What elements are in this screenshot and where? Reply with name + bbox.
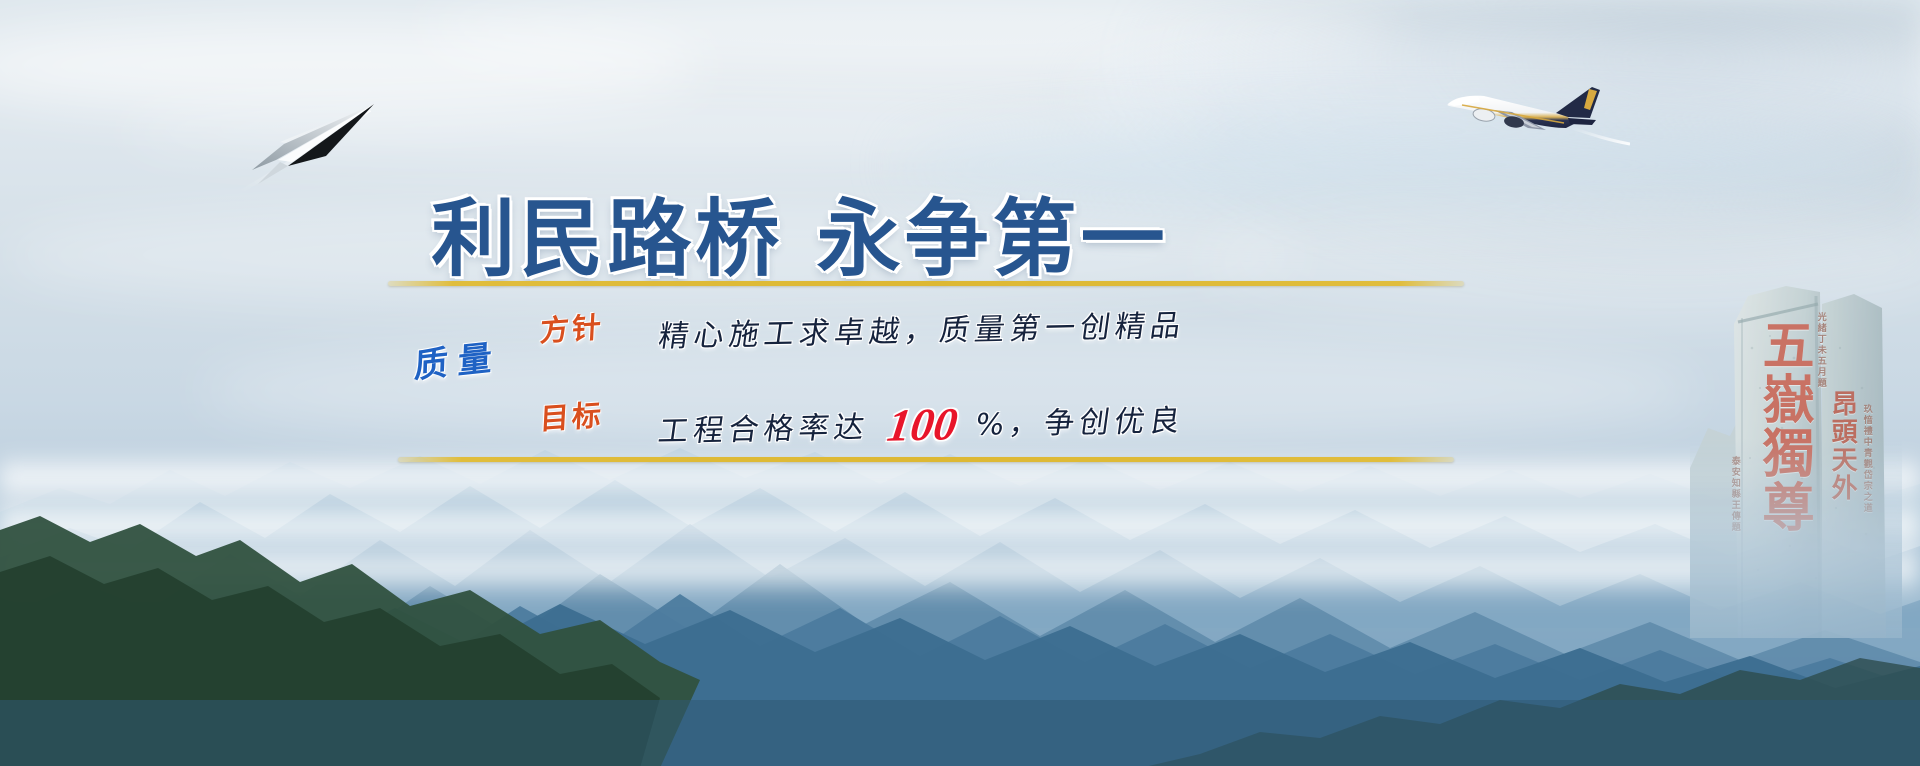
mountain-range: [0, 550, 1920, 766]
monument-mist-fade: [1690, 438, 1902, 638]
page-title: 利民路桥 永争第一: [0, 172, 1600, 293]
bottom-haze: [0, 700, 1920, 766]
foreground-hill: [0, 628, 1920, 766]
mountain-range: [0, 590, 1920, 766]
target-slogan-after: %，争创优良: [973, 404, 1187, 443]
target-slogan-before: 工程合格率达: [656, 410, 871, 449]
mist-band: [0, 540, 1920, 600]
monument-small-inscription-a: 光緒丁未五月題: [1816, 312, 1826, 389]
quality-slogan-block: 质量 方针 目标 精心施工求卓越，质量第一创精品 工程合格率达 100 %，争创…: [380, 288, 1480, 468]
divider-top: [388, 281, 1464, 286]
foreground-hill: [0, 498, 1920, 766]
policy-label: 方针: [539, 304, 605, 351]
mountain-range: [0, 512, 1920, 766]
stone-monument: 五嶽獨尊 昂頭天外 光緒丁未五月題 泰安知縣王傳題 玖愔禮中青觀岱宗之道: [1690, 278, 1902, 638]
target-slogan-text: 工程合格率达 100 %，争创优良: [656, 389, 1190, 453]
company-slogan-banner: 五嶽獨尊 昂頭天外 光緒丁未五月題 泰安知縣王傳題 玖愔禮中青觀岱宗之道 利民路…: [0, 0, 1920, 766]
mountain-range: [0, 470, 1920, 690]
mist-band: [0, 496, 1920, 560]
airplane-icon: [1440, 84, 1630, 146]
target-label: 目标: [539, 392, 605, 439]
target-percent-value: 100: [880, 398, 964, 451]
policy-slogan-text: 精心施工求卓越，质量第一创精品: [656, 301, 1189, 356]
quality-label: 质量: [413, 329, 502, 388]
